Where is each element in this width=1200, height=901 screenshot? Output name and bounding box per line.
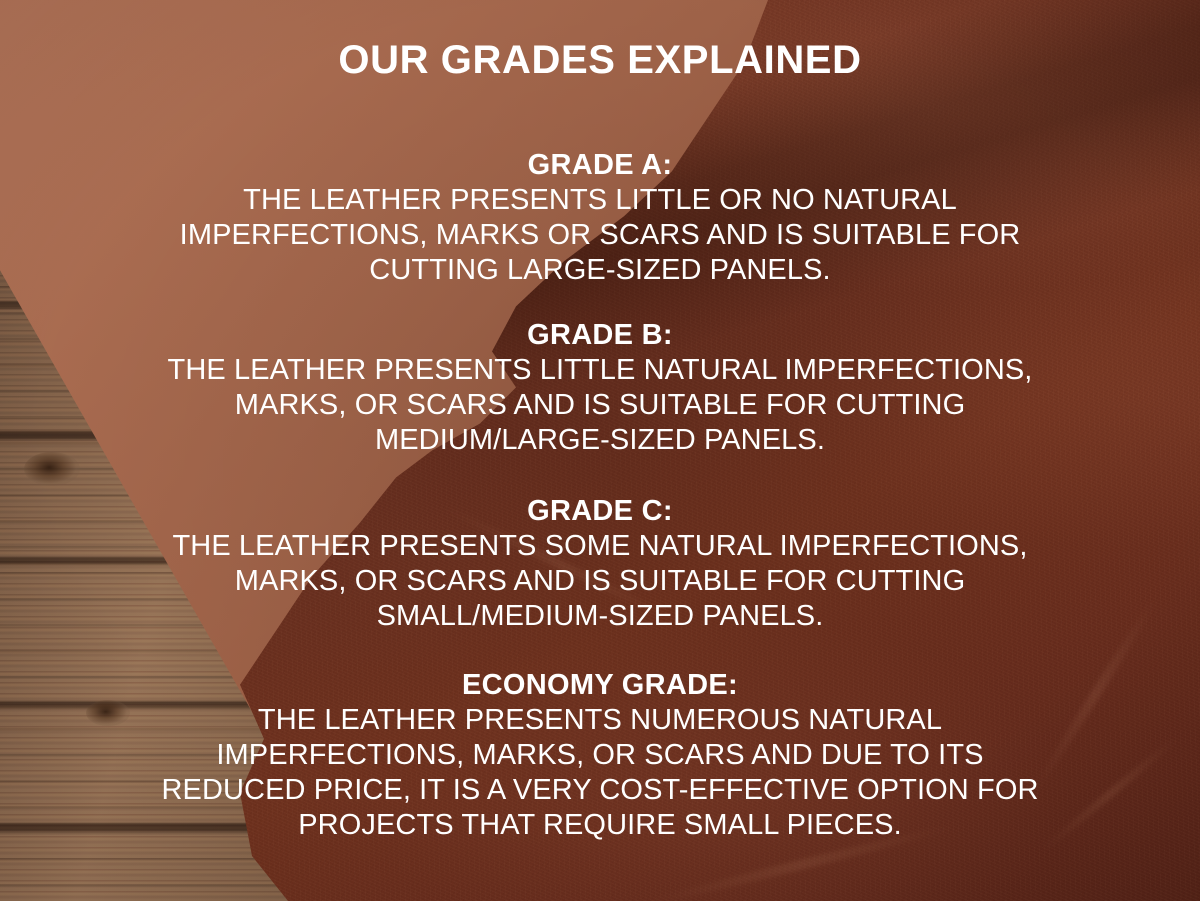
grade-section-a: GRADE A: THE LEATHER PRESENTS LITTLE OR …	[0, 148, 1200, 288]
grade-b-line-2: MARKS, OR SCARS AND IS SUITABLE FOR CUTT…	[0, 388, 1200, 423]
economy-line-4: PROJECTS THAT REQUIRE SMALL PIECES.	[0, 808, 1200, 843]
grade-a-line-1: THE LEATHER PRESENTS LITTLE OR NO NATURA…	[0, 183, 1200, 218]
economy-grade-description: THE LEATHER PRESENTS NUMEROUS NATURAL IM…	[0, 703, 1200, 843]
grade-b-description: THE LEATHER PRESENTS LITTLE NATURAL IMPE…	[0, 353, 1200, 458]
economy-line-3: REDUCED PRICE, IT IS A VERY COST-EFFECTI…	[0, 773, 1200, 808]
economy-grade-heading: ECONOMY GRADE:	[0, 668, 1200, 703]
grade-section-b: GRADE B: THE LEATHER PRESENTS LITTLE NAT…	[0, 318, 1200, 458]
grade-a-description: THE LEATHER PRESENTS LITTLE OR NO NATURA…	[0, 183, 1200, 288]
grade-c-heading: GRADE C:	[0, 494, 1200, 529]
economy-line-2: IMPERFECTIONS, MARKS, OR SCARS AND DUE T…	[0, 738, 1200, 773]
grade-c-line-1: THE LEATHER PRESENTS SOME NATURAL IMPERF…	[0, 529, 1200, 564]
grade-b-line-3: MEDIUM/LARGE-SIZED PANELS.	[0, 423, 1200, 458]
leather-grades-poster: OUR GRADES EXPLAINED GRADE A: THE LEATHE…	[0, 0, 1200, 901]
grade-a-line-3: CUTTING LARGE-SIZED PANELS.	[0, 253, 1200, 288]
grade-b-heading: GRADE B:	[0, 318, 1200, 353]
grade-section-c: GRADE C: THE LEATHER PRESENTS SOME NATUR…	[0, 494, 1200, 634]
grade-a-line-2: IMPERFECTIONS, MARKS OR SCARS AND IS SUI…	[0, 218, 1200, 253]
grade-b-line-1: THE LEATHER PRESENTS LITTLE NATURAL IMPE…	[0, 353, 1200, 388]
economy-line-1: THE LEATHER PRESENTS NUMEROUS NATURAL	[0, 703, 1200, 738]
grade-section-economy: ECONOMY GRADE: THE LEATHER PRESENTS NUME…	[0, 668, 1200, 843]
grade-c-line-2: MARKS, OR SCARS AND IS SUITABLE FOR CUTT…	[0, 564, 1200, 599]
page-title: OUR GRADES EXPLAINED	[0, 36, 1200, 84]
grade-c-description: THE LEATHER PRESENTS SOME NATURAL IMPERF…	[0, 529, 1200, 634]
grade-c-line-3: SMALL/MEDIUM-SIZED PANELS.	[0, 599, 1200, 634]
grade-a-heading: GRADE A:	[0, 148, 1200, 183]
poster-content: OUR GRADES EXPLAINED GRADE A: THE LEATHE…	[0, 0, 1200, 901]
